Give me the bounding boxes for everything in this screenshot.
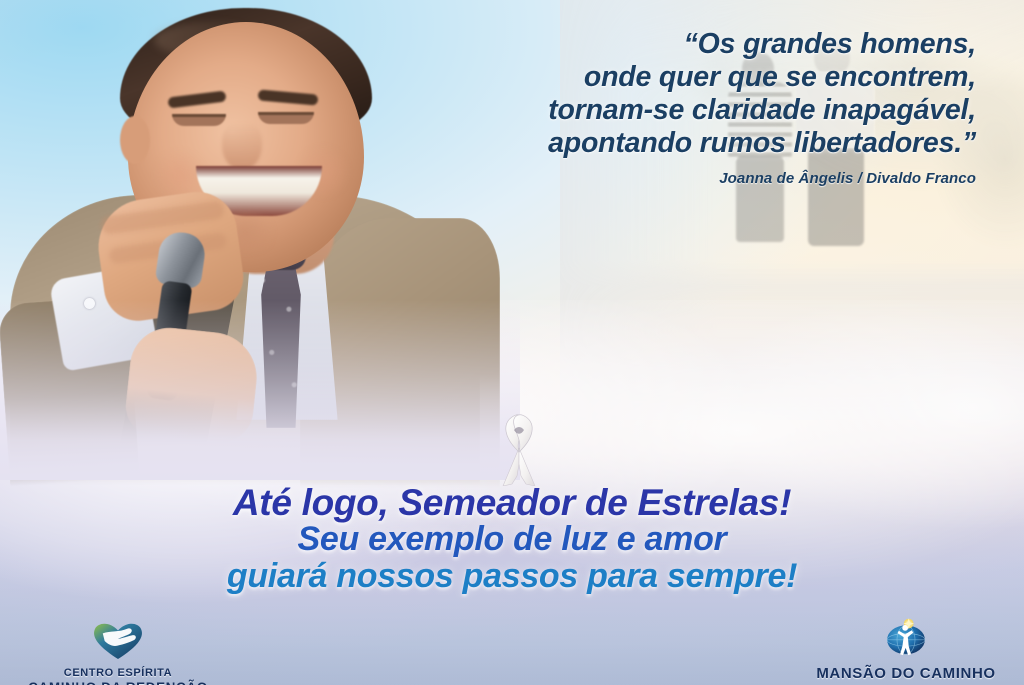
logo-left-line-1: CENTRO ESPÍRITA (8, 667, 228, 680)
memorial-poster: “Os grandes homens, onde quer que se enc… (0, 0, 1024, 685)
headline-line-3: guiará nossos passos para sempre! (0, 558, 1024, 595)
headline-line-2: Seu exemplo de luz e amor (0, 521, 1024, 558)
quote-line-3: tornam-se claridade inapagável, (436, 94, 976, 127)
quote-text: “Os grandes homens, onde quer que se enc… (436, 28, 976, 160)
heart-hands-icon (8, 620, 228, 665)
headline-line-1: Até logo, Semeador de Estrelas! (0, 484, 1024, 521)
logo-left-line-2: CAMINHO DA REDENÇÃO (8, 680, 228, 685)
headline: Até logo, Semeador de Estrelas! Seu exem… (0, 484, 1024, 595)
mourning-ribbon-icon (488, 412, 550, 486)
quote-line-2: onde quer que se encontrem, (436, 61, 976, 94)
quote-attribution: Joanna de Ângelis / Divaldo Franco (436, 170, 976, 187)
logo-mansao-do-caminho: MANSÃO DO CAMINHO (796, 618, 1016, 682)
quote-line-4: apontando rumos libertadores.” (436, 127, 976, 160)
logo-right-line-1: MANSÃO DO CAMINHO (796, 665, 1016, 682)
globe-figure-star-icon (796, 618, 1016, 663)
quote-line-1: “Os grandes homens, (436, 28, 976, 61)
logo-centro-espirita-caminho-da-redencao: CENTRO ESPÍRITA CAMINHO DA REDENÇÃO (8, 620, 228, 685)
